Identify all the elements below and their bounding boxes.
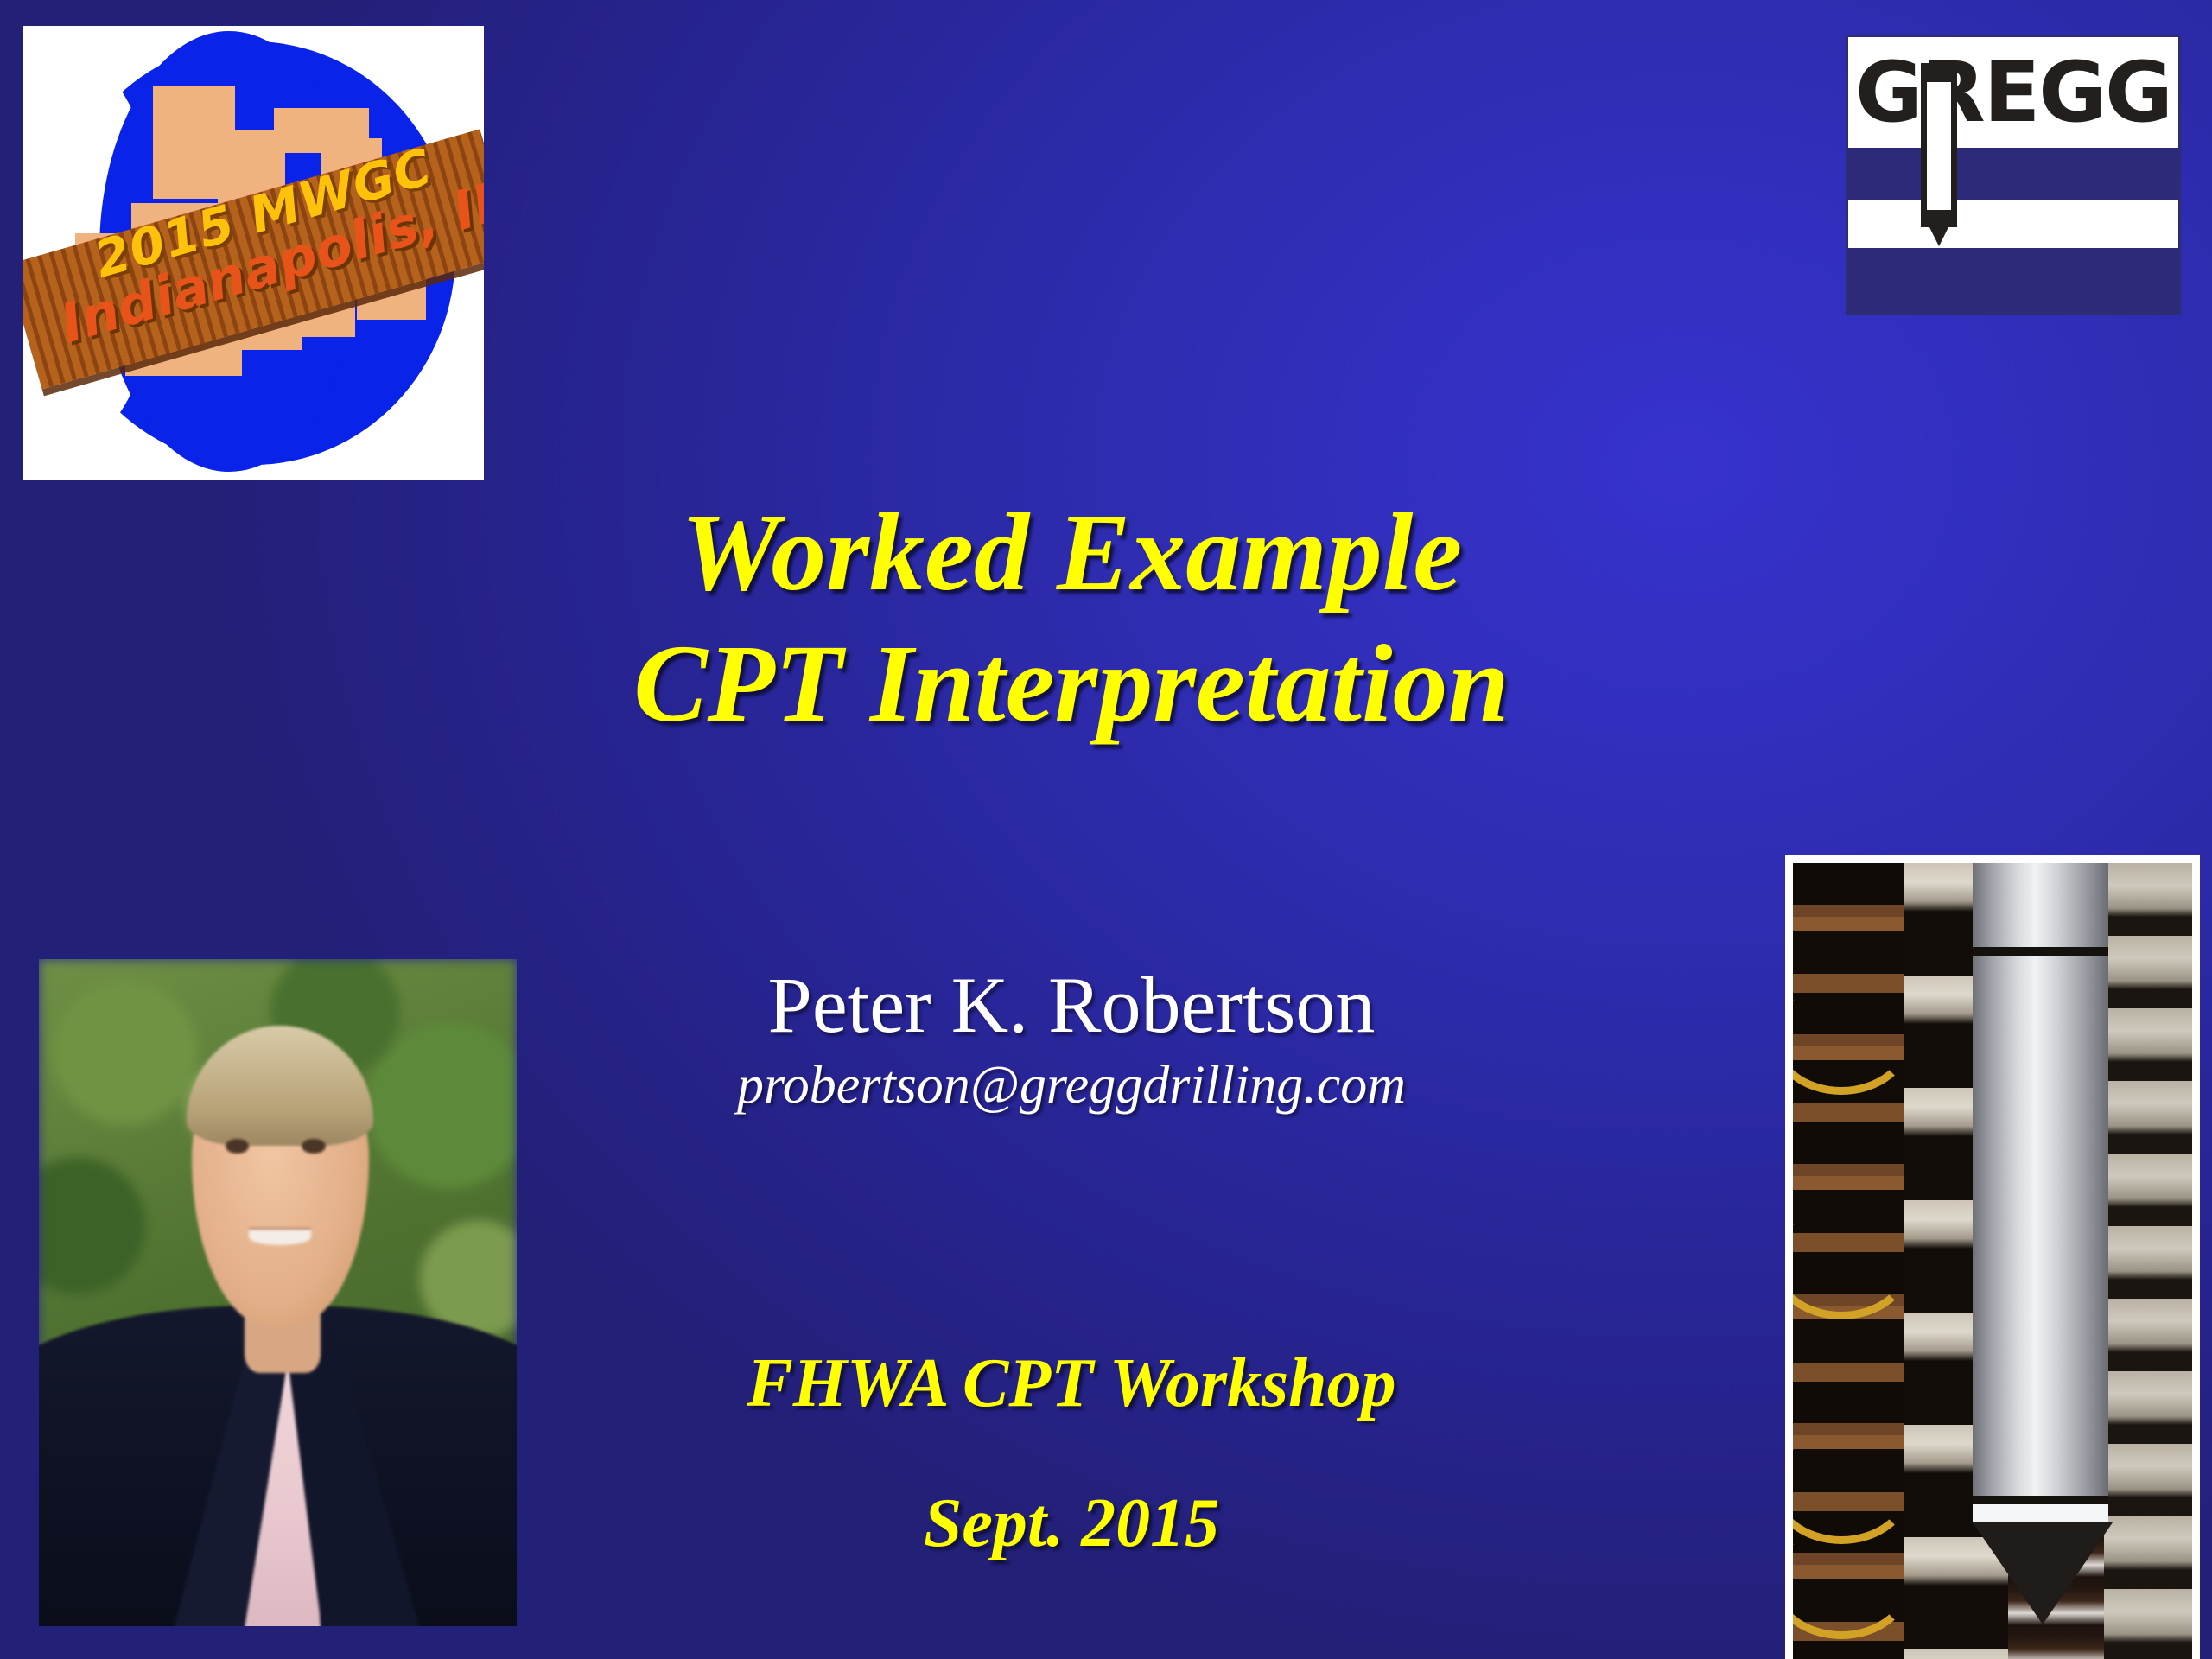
cone-conical-tip: [1973, 1522, 2113, 1624]
presentation-slide: ★ 2015 MWGC Indianapolis, IN GREGG Worke…: [0, 0, 2212, 1659]
cpt-cone-photo: [1785, 855, 2200, 1659]
headshot-softening-overlay: [39, 959, 517, 1626]
slide-title: Worked Example CPT Interpretation: [372, 497, 1771, 739]
cpt-cone-photo-inner: [1793, 863, 2192, 1659]
event-name: FHWA CPT Workshop: [372, 1344, 1771, 1423]
speaker-headshot: [39, 959, 517, 1626]
title-line-2: CPT Interpretation: [372, 628, 1771, 739]
logo-band-upper: [1848, 148, 2178, 200]
logo-band-thin: [1848, 248, 2178, 258]
rods-right: [2104, 863, 2192, 1659]
gregg-drilling-logo: GREGG: [1846, 35, 2181, 315]
logo-band-lower: [1848, 258, 2178, 312]
mwgc-conference-logo: ★ 2015 MWGC Indianapolis, IN: [23, 26, 484, 480]
author-email[interactable]: probertson@greggdrilling.com: [372, 1053, 1771, 1117]
cone-probe-shaft: [1927, 82, 1951, 212]
event-date: Sept. 2015: [372, 1484, 1771, 1563]
cone-lower-ring: [1973, 1496, 2108, 1504]
cone-probe-icon: [1921, 63, 1957, 227]
cone-penetrometer-body: [1973, 863, 2108, 1516]
cone-porous-filter: [1973, 1504, 2108, 1522]
author-block: Peter K. Robertson probertson@greggdrill…: [372, 963, 1771, 1117]
event-block: FHWA CPT Workshop Sept. 2015: [372, 1344, 1771, 1563]
gregg-wordmark: GREGG: [1855, 46, 2171, 139]
cone-probe-tip-icon: [1921, 210, 1957, 246]
title-line-1: Worked Example: [372, 497, 1771, 607]
author-name: Peter K. Robertson: [372, 963, 1771, 1046]
cone-upper-ring: [1973, 947, 2108, 956]
